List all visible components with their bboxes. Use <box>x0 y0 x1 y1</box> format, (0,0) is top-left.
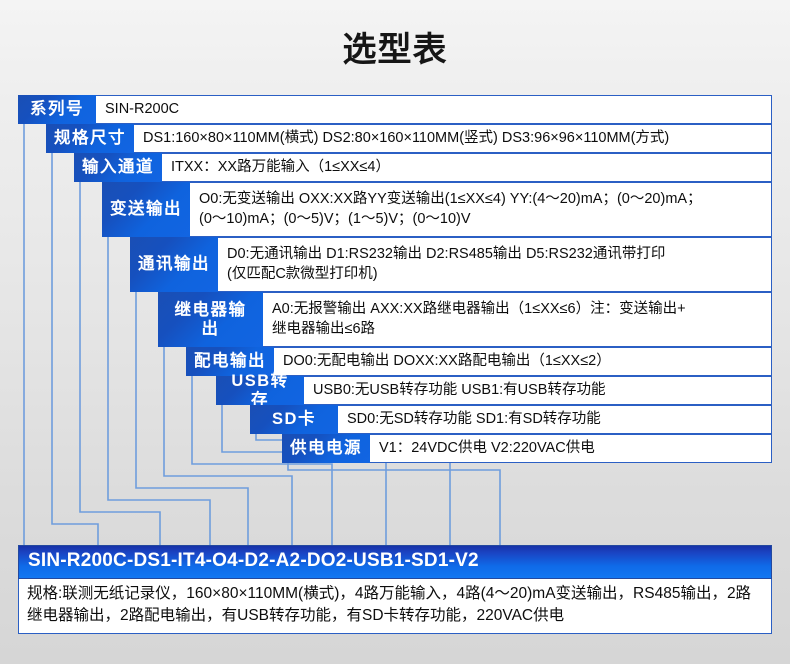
row-label-sd-card: SD卡 <box>250 405 338 434</box>
row-label-input-channel: 输入通道 <box>74 153 162 182</box>
row-value-input-channel: ITXX：XX路万能输入（1≤XX≤4） <box>162 153 772 182</box>
table-row[interactable]: USB转存 USB0:无USB转存功能 USB1:有USB转存功能 <box>216 376 772 405</box>
row-value-usb-storage: USB0:无USB转存功能 USB1:有USB转存功能 <box>304 376 772 405</box>
row-label-usb-storage: USB转存 <box>216 376 304 405</box>
table-row[interactable]: 系列号 SIN-R200C <box>18 95 772 124</box>
row-value-transmitter-output: O0:无变送输出 OXX:XX路YY变送输出(1≤XX≤4) YY:(4～20)… <box>190 182 772 237</box>
table-row[interactable]: 供电电源 V1：24VDC供电 V2:220VAC供电 <box>282 434 772 463</box>
table-row[interactable]: 规格尺寸 DS1:160×80×110MM(横式) DS2:80×160×110… <box>46 124 772 153</box>
table-row[interactable]: 输入通道 ITXX：XX路万能输入（1≤XX≤4） <box>74 153 772 182</box>
table-row[interactable]: 继电器输出 A0:无报警输出 AXX:XX路继电器输出（1≤XX≤6）注：变送输… <box>158 292 772 347</box>
row-value-sd-card: SD0:无SD转存功能 SD1:有SD转存功能 <box>338 405 772 434</box>
row-value-dimensions: DS1:160×80×110MM(横式) DS2:80×160×110MM(竖式… <box>134 124 772 153</box>
row-label-series-number: 系列号 <box>18 95 96 124</box>
row-value-communication-output: D0:无通讯输出 D1:RS232输出 D2:RS485输出 D5:RS232通… <box>218 237 772 292</box>
row-label-communication-output: 通讯输出 <box>130 237 218 292</box>
row-value-relay-output: A0:无报警输出 AXX:XX路继电器输出（1≤XX≤6）注：变送输出+ 继电器… <box>263 292 772 347</box>
table-row[interactable]: 变送输出 O0:无变送输出 OXX:XX路YY变送输出(1≤XX≤4) YY:(… <box>102 182 772 237</box>
row-value-power-supply: V1：24VDC供电 V2:220VAC供电 <box>370 434 772 463</box>
row-label-dimensions: 规格尺寸 <box>46 124 134 153</box>
model-description: 规格:联测无纸记录仪，160×80×110MM(横式)，4路万能输入，4路(4～… <box>18 579 772 634</box>
row-label-relay-output: 继电器输出 <box>158 292 263 347</box>
table-row[interactable]: SD卡 SD0:无SD转存功能 SD1:有SD转存功能 <box>250 405 772 434</box>
summary-block: SIN-R200C-DS1-IT4-O4-D2-A2-DO2-USB1-SD1-… <box>18 545 772 634</box>
row-value-power-distribution-output: DO0:无配电输出 DOXX:XX路配电输出（1≤XX≤2） <box>274 347 772 376</box>
table-row[interactable]: 通讯输出 D0:无通讯输出 D1:RS232输出 D2:RS485输出 D5:R… <box>130 237 772 292</box>
row-value-series-number: SIN-R200C <box>96 95 772 124</box>
row-label-power-supply: 供电电源 <box>282 434 370 463</box>
row-label-transmitter-output: 变送输出 <box>102 182 190 237</box>
model-code-bar: SIN-R200C-DS1-IT4-O4-D2-A2-DO2-USB1-SD1-… <box>18 545 772 579</box>
